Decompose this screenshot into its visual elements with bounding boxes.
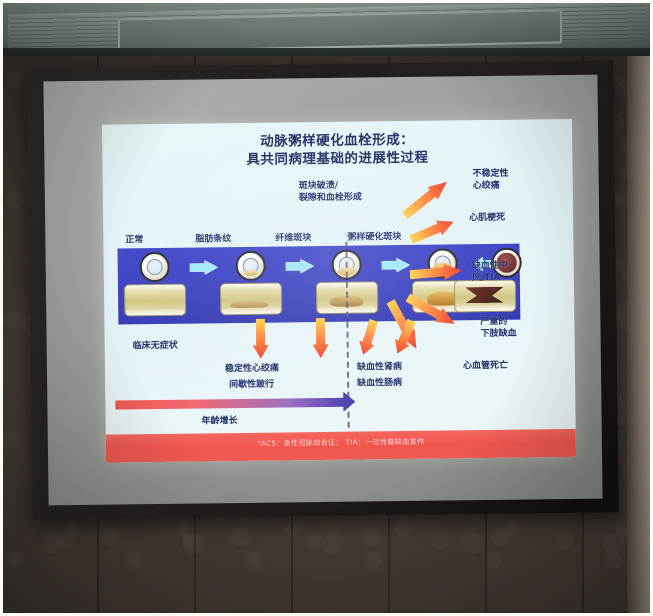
label-critical-limb-ischemia: 严重的 下肢缺血 [480,316,516,340]
vessel-stage-2 [218,250,285,319]
label-clinically-asymptomatic: 临床无症状 [133,340,178,353]
label-ischemic-stroke-line1: 缺血性中 [472,260,508,272]
outcome-arrow-intermittent-claudication [312,318,328,358]
label-ischemic-nephropathy: 缺血性肾病 [357,361,402,374]
right-wall-edge [627,56,653,616]
label-unstable-angina-line1: 不稳定性 [473,168,509,180]
outcome-arrow-ischemic-nephropathy [356,318,382,357]
label-plaque-rupture-line2: 裂隙和血栓形成 [299,192,362,205]
age-progression-bar [115,398,347,410]
disease-progression-band [117,244,520,325]
stage-arrow-1 [190,259,218,273]
label-critical-limb-ischemia-line2: 下肢缺血 [480,328,516,340]
photograph-of-projected-slide: 动脉粥样硬化血栓形成： 具共同病理基础的进展性过程 正常 脂肪条纹 纤维斑块 粥… [0,0,653,616]
label-ischemic-bowel-disease: 缺血性肠病 [357,377,402,390]
label-increasing-age: 年龄增长 [202,415,238,427]
outcome-arrow-unstable-angina [400,176,452,222]
stage-arrow-3 [382,257,410,271]
label-unstable-angina-line2: 心绞痛 [473,180,509,192]
label-plaque-rupture-line1: 斑块破溃/ [299,180,362,193]
presentation-slide: 动脉粥样硬化血栓形成： 具共同病理基础的进展性过程 正常 脂肪条纹 纤维斑块 粥… [102,119,576,463]
label-plaque-rupture: 斑块破溃/ 裂隙和血栓形成 [299,180,362,205]
label-intermittent-claudication: 间歇性跛行 [229,379,274,392]
projection-screen-frame: 动脉粥样硬化血栓形成： 具共同病理基础的进展性过程 正常 脂肪条纹 纤维斑块 粥… [27,60,618,519]
label-critical-limb-ischemia-line1: 严重的 [480,316,516,328]
stage-caption-normal: 正常 [125,232,143,245]
label-stable-angina: 稳定性心绞痛 [225,363,279,376]
label-cardiovascular-death: 心血管死亡 [463,360,508,373]
stage-arrow-2 [286,258,314,272]
label-ischemic-stroke: 缺血性中 风/TIA [472,260,508,284]
stage-caption-fibrous-plaque: 纤维斑块 [275,230,311,243]
label-myocardial-infarction: 心肌梗死 [469,212,505,224]
vessel-longitudinal-icon [124,284,186,317]
label-ischemic-stroke-line2: 风/TIA [472,272,508,284]
age-progression-arrowhead [343,392,355,412]
label-unstable-angina: 不稳定性 心绞痛 [473,168,509,192]
vessel-cross-section-icon [140,252,170,282]
stage-caption-atherosclerotic-plaque: 粥样硬化斑块 [347,229,401,243]
slide-title: 动脉粥样硬化血栓形成： 具共同病理基础的进展性过程 [102,129,572,171]
outcome-arrow-stable-angina [252,319,268,359]
vessel-cross-section-icon [236,251,266,281]
vessel-stage-1 [122,252,189,321]
vessel-longitudinal-icon [220,283,282,316]
projection-screen-surface: 动脉粥样硬化血栓形成： 具共同病理基础的进展性过程 正常 脂肪条纹 纤维斑块 粥… [43,75,602,506]
stage-caption-fatty-streak: 脂肪条纹 [195,231,231,244]
vessel-longitudinal-icon [454,280,516,313]
